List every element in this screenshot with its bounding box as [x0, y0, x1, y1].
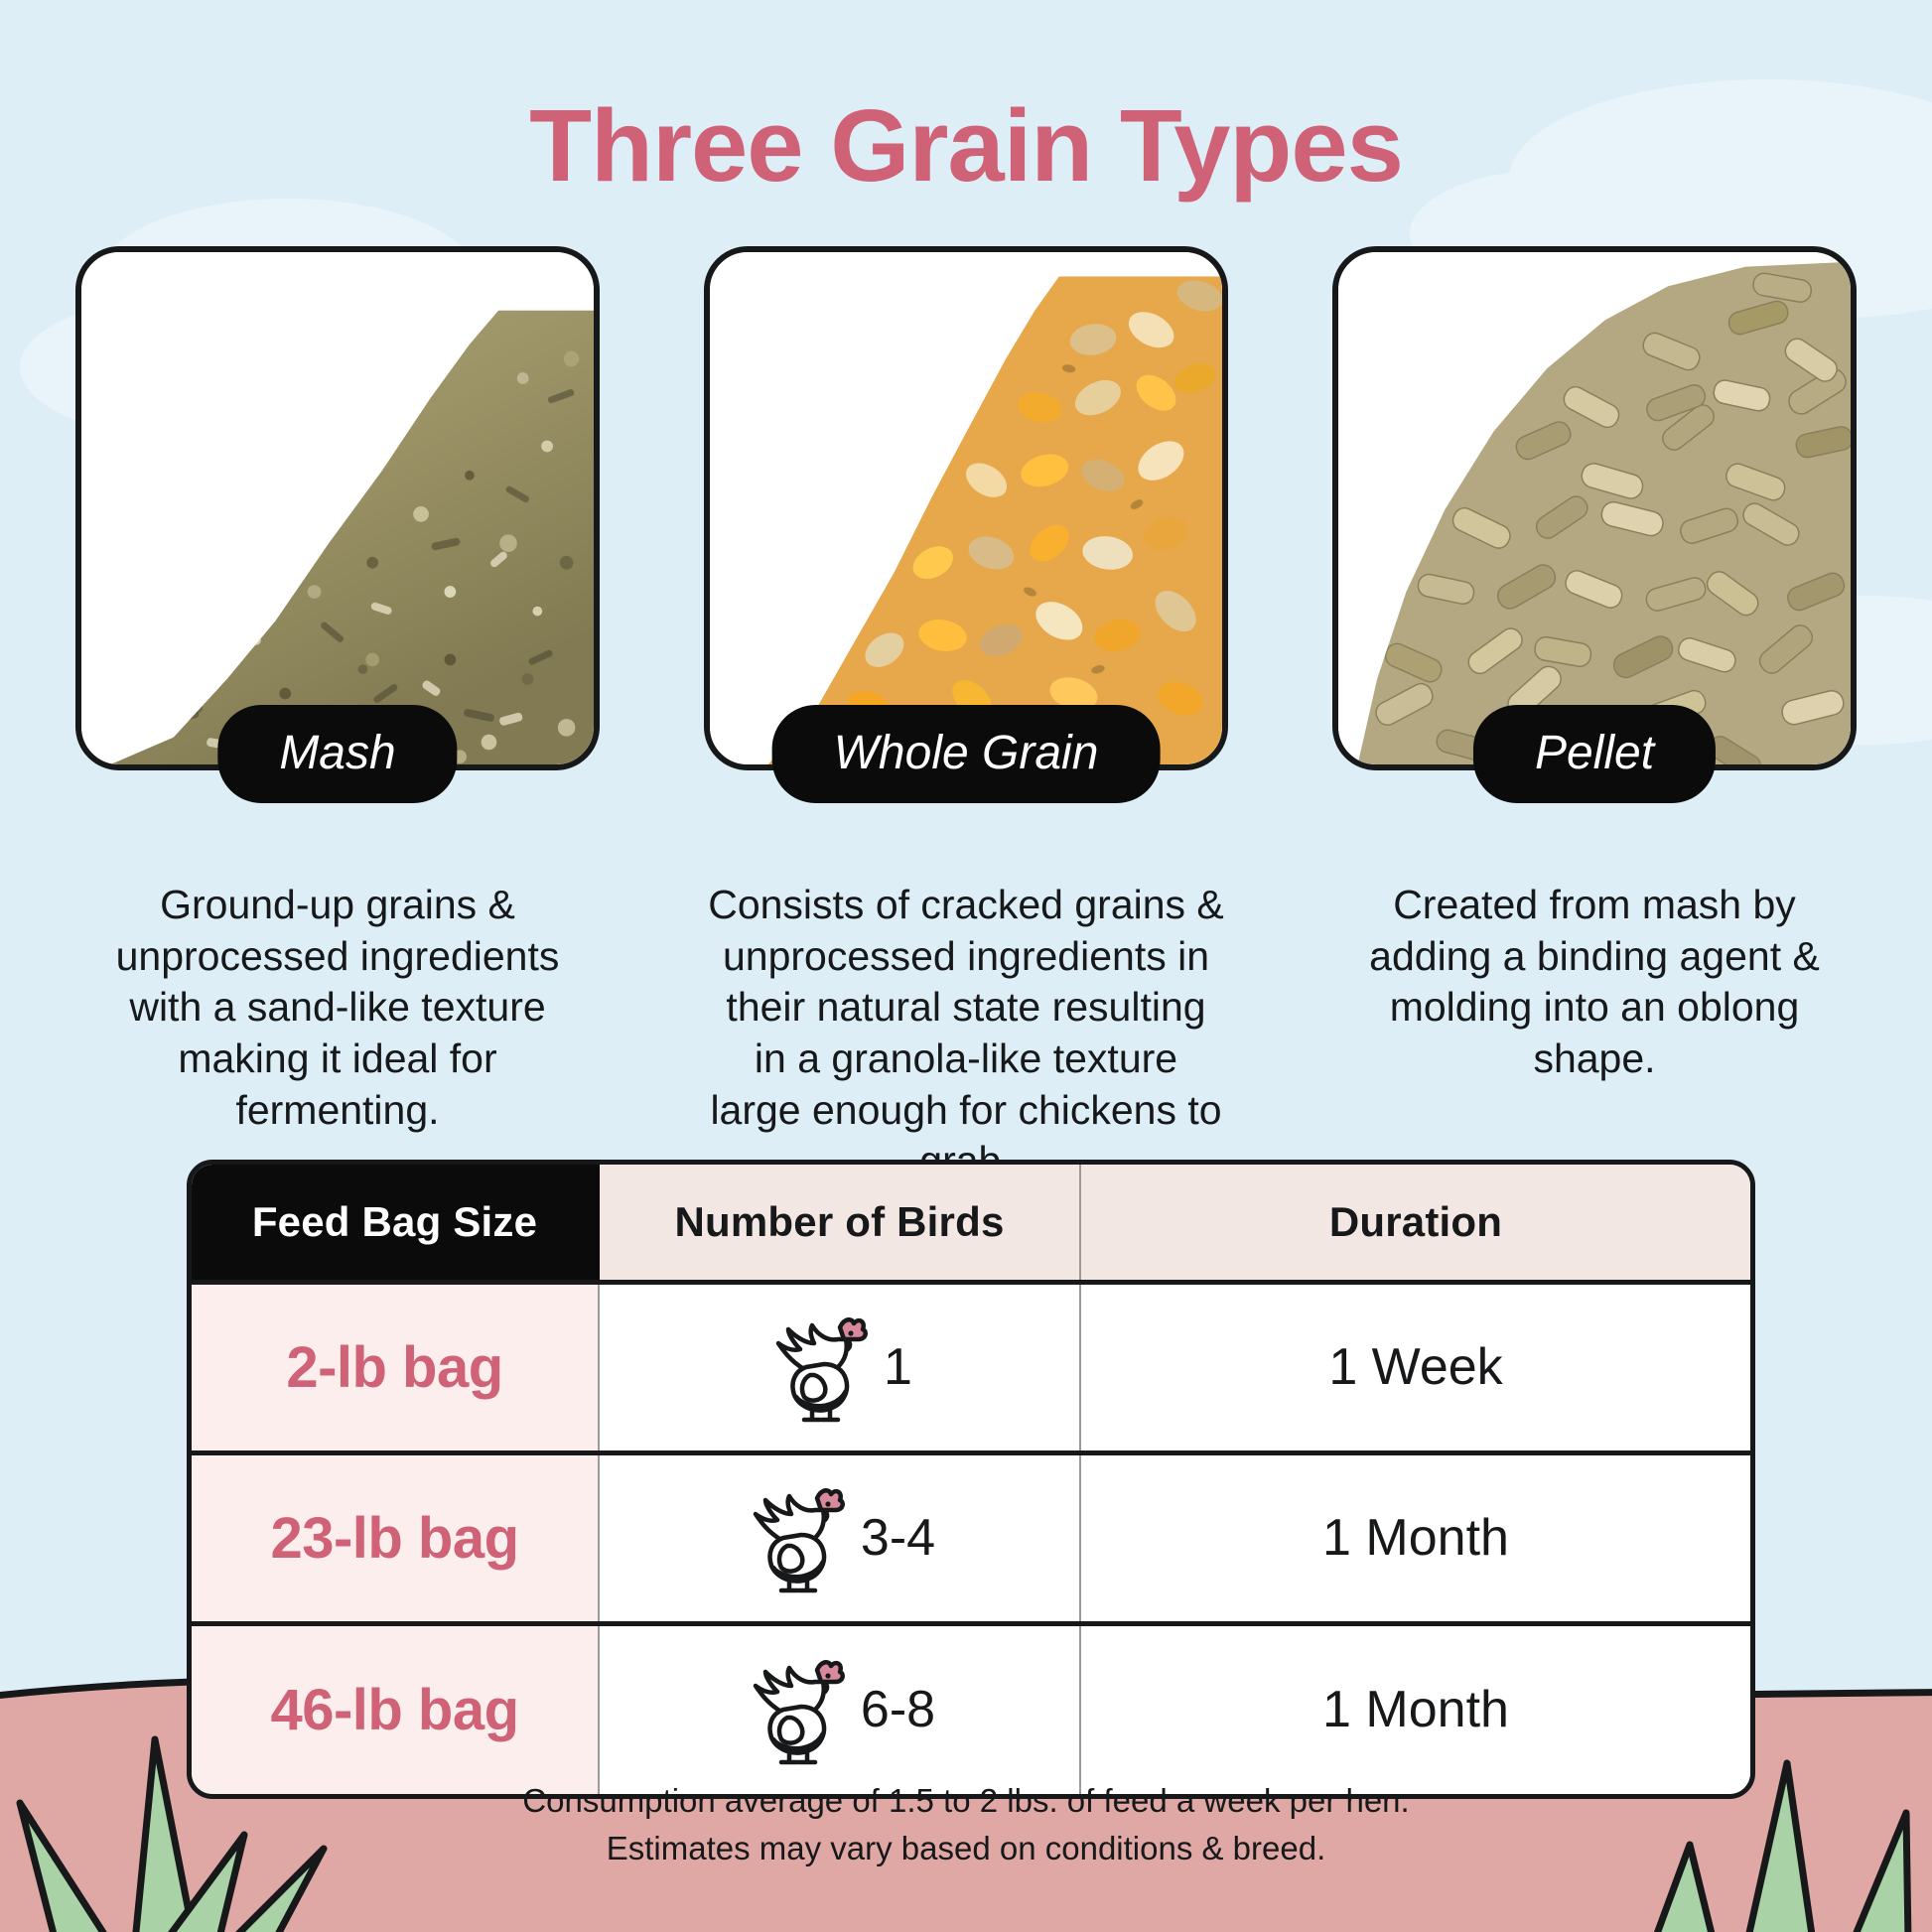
cell-number-of-birds: 6-8	[599, 1623, 1080, 1794]
birds-count-label: 3-4	[861, 1512, 935, 1564]
grain-description: Consists of cracked grains & unprocessed…	[698, 880, 1234, 1187]
grain-card-pellet: Pellet Created from mash by adding a bin…	[1326, 246, 1863, 1187]
grain-label-pill: Whole Grain	[772, 705, 1161, 803]
birds-count-label: 1	[884, 1341, 912, 1393]
grain-label-pill: Pellet	[1473, 705, 1716, 803]
pellet-feed-photo	[1338, 252, 1851, 764]
whole-grain-feed-photo	[710, 252, 1222, 764]
mash-feed-photo	[81, 252, 594, 764]
footnote: Consumption average of 1.5 to 2 lbs. of …	[0, 1777, 1932, 1872]
grain-description: Created from mash by adding a binding ag…	[1326, 880, 1863, 1085]
cell-duration: 1 Month	[1080, 1452, 1750, 1623]
mash-photo-frame	[75, 246, 600, 770]
hen-icon	[744, 1480, 847, 1595]
birds-count-label: 6-8	[861, 1684, 935, 1735]
table-row: 23-lb bag	[192, 1452, 1750, 1623]
column-header-duration: Duration	[1080, 1165, 1750, 1282]
cell-number-of-birds: 3-4	[599, 1452, 1080, 1623]
page-title: Three Grain Types	[0, 94, 1932, 197]
column-header-number-of-birds: Number of Birds	[599, 1165, 1080, 1282]
pellet-photo-frame	[1332, 246, 1857, 770]
whole-grain-photo-frame	[704, 246, 1228, 770]
grain-label-pill: Mash	[217, 705, 457, 803]
grain-type-cards: Mash Ground-up grains & unprocessed ingr…	[69, 246, 1863, 1187]
table-row: 46-lb bag	[192, 1623, 1750, 1794]
grain-card-whole-grain: Whole Grain Consists of cracked grains &…	[698, 246, 1234, 1187]
footnote-line-1: Consumption average of 1.5 to 2 lbs. of …	[0, 1777, 1932, 1825]
cell-feed-bag-size: 2-lb bag	[192, 1282, 599, 1452]
cell-feed-bag-size: 46-lb bag	[192, 1623, 599, 1794]
cell-feed-bag-size: 23-lb bag	[192, 1452, 599, 1623]
hen-icon	[766, 1310, 870, 1425]
feed-bag-table: Feed Bag Size Number of Birds Duration 2…	[187, 1160, 1755, 1799]
column-header-feed-bag-size: Feed Bag Size	[192, 1165, 599, 1282]
hen-icon	[744, 1652, 847, 1767]
table-row: 2-lb bag	[192, 1282, 1750, 1452]
cell-duration: 1 Week	[1080, 1282, 1750, 1452]
footnote-line-2: Estimates may vary based on conditions &…	[0, 1825, 1932, 1872]
table-header-row: Feed Bag Size Number of Birds Duration	[192, 1165, 1750, 1282]
infographic-canvas: Three Grain Types	[0, 0, 1932, 1932]
cell-duration: 1 Month	[1080, 1623, 1750, 1794]
grain-description: Ground-up grains & unprocessed ingredien…	[69, 880, 606, 1136]
cell-number-of-birds: 1	[599, 1282, 1080, 1452]
grain-card-mash: Mash Ground-up grains & unprocessed ingr…	[69, 246, 606, 1187]
